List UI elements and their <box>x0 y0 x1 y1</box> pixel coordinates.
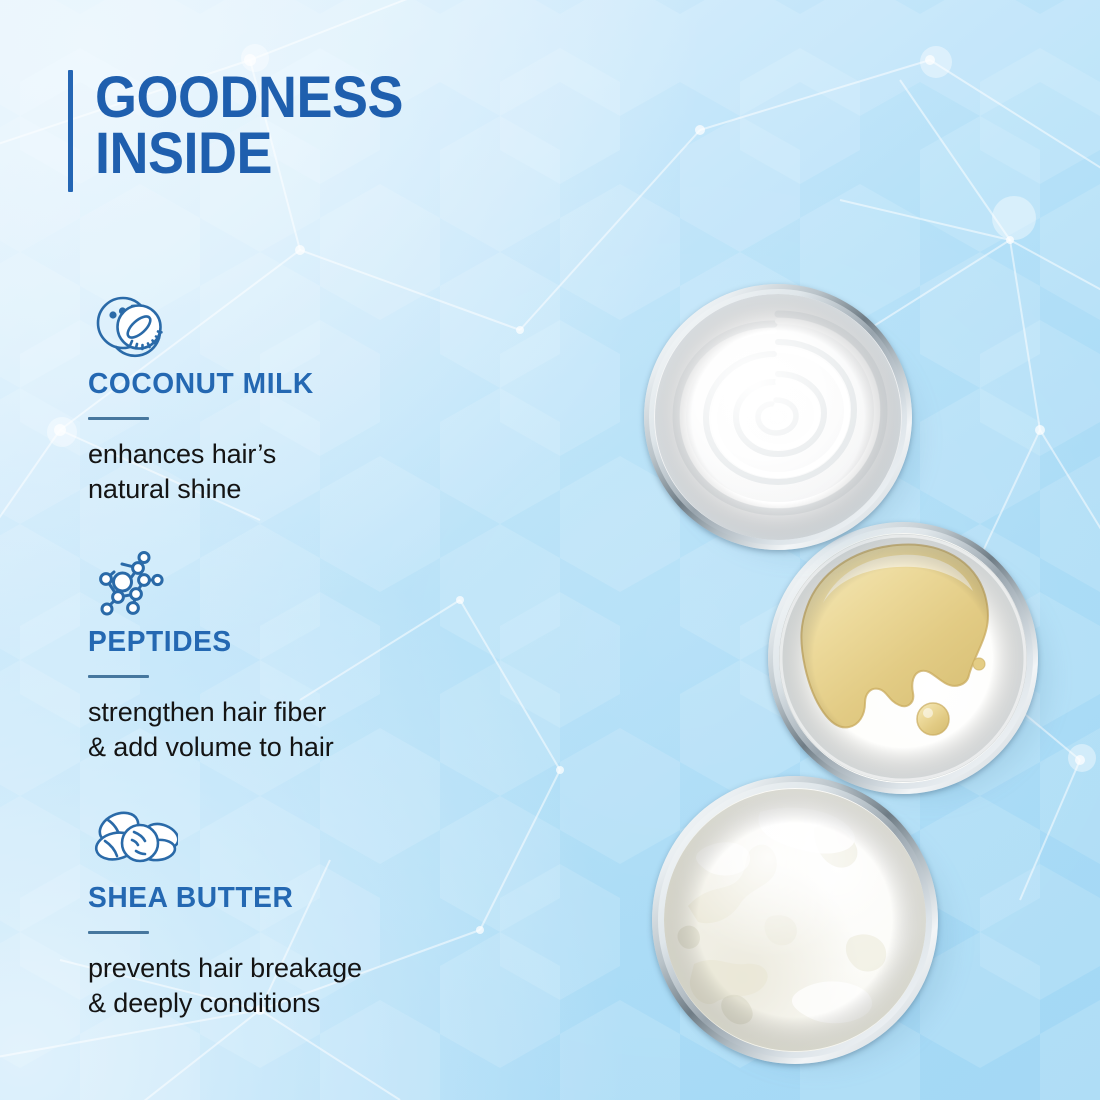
ingredient-divider <box>88 675 149 678</box>
cream-jar <box>644 284 912 550</box>
molecule-icon <box>92 550 508 622</box>
ingredient-peptides: PEPTIDES strengthen hair fiber & add vol… <box>88 550 508 764</box>
ingredient-divider <box>88 417 149 420</box>
ingredient-divider <box>88 931 149 934</box>
coconut-icon <box>92 292 508 364</box>
ingredient-name: SHEA BUTTER <box>88 882 495 915</box>
ingredient-description: enhances hair’s natural shine <box>88 437 508 506</box>
ingredient-description: prevents hair breakage & deeply conditio… <box>88 951 508 1020</box>
ingredient-coconut-milk: COCONUT MILK enhances hair’s natural shi… <box>88 292 508 506</box>
page-title: GOODNESS INSIDE <box>95 70 403 181</box>
shea-nut-icon <box>92 806 508 878</box>
infographic-canvas: GOODNESS INSIDE <box>0 0 1100 1100</box>
header: GOODNESS INSIDE <box>68 70 426 192</box>
shea-butter-jar <box>652 776 938 1064</box>
ingredient-name: COCONUT MILK <box>88 368 495 401</box>
header-accent-bar <box>68 70 73 192</box>
ingredient-shea-butter: SHEA BUTTER prevents hair breakage & dee… <box>88 806 508 1020</box>
ingredient-name: PEPTIDES <box>88 626 495 659</box>
ingredient-description: strengthen hair fiber & add volume to ha… <box>88 695 508 764</box>
